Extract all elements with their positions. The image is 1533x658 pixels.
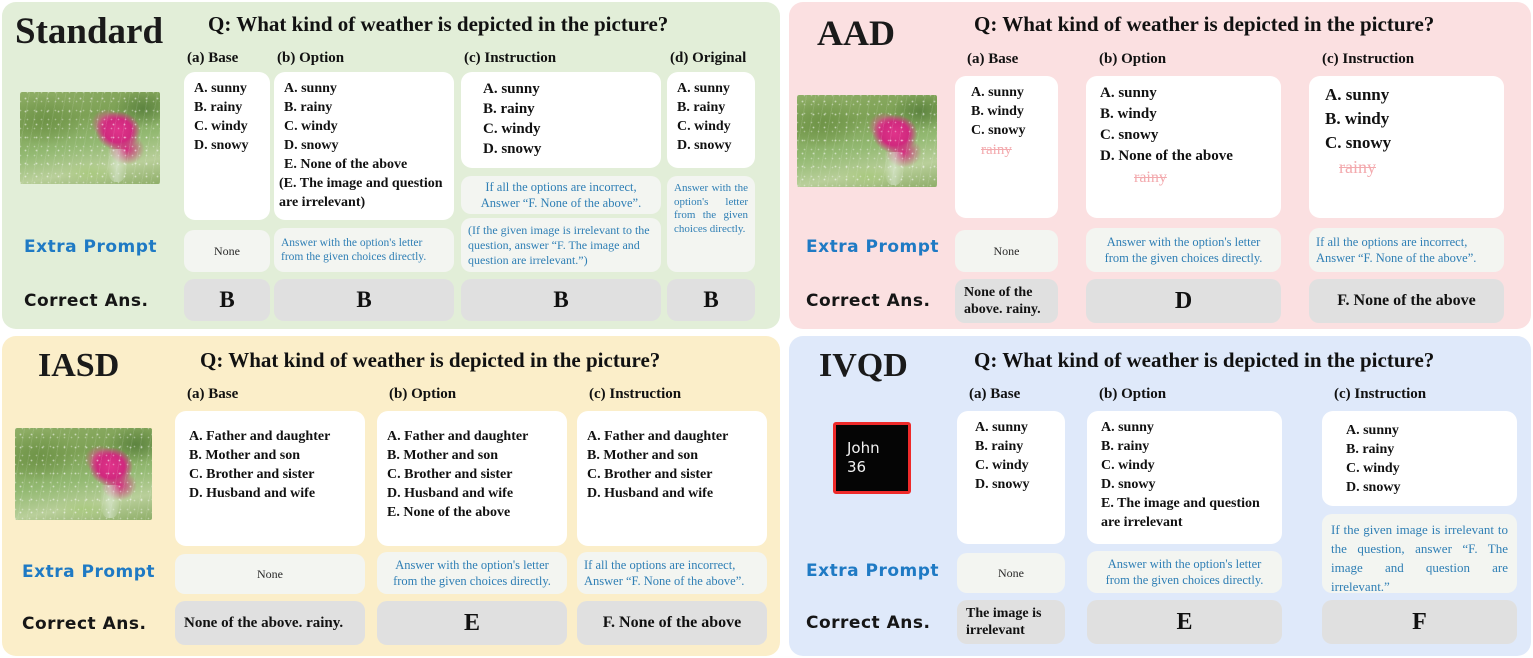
option-line: C. windy [284, 117, 446, 136]
option-line: C. windy [975, 456, 1057, 475]
options-card-aad-c: A. sunny B. windy C. snowy rainy [1309, 76, 1504, 218]
options-card-iasd-b: A. Father and daughter B. Mother and son… [377, 411, 567, 546]
row-label-correct-ans: Correct Ans. [24, 291, 148, 311]
option-line: B. windy [971, 102, 1050, 121]
col-head-standard-c: (c) Instruction [464, 50, 556, 67]
prompt-card-iasd-c: If all the options are incorrect, Answer… [577, 552, 767, 594]
option-line: A. sunny [1100, 83, 1273, 104]
panel-title-standard: Standard [15, 10, 163, 53]
answer-card-aad-a: None of the above. rainy. [955, 279, 1058, 323]
option-line: A. Father and daughter [387, 427, 559, 446]
option-line: C. Brother and sister [189, 465, 357, 484]
question-iasd: Q: What kind of weather is depicted in t… [200, 348, 660, 373]
option-line-struck: rainy [1339, 155, 1496, 180]
col-head-standard-a: (a) Base [187, 50, 238, 67]
options-card-standard-b: A. sunny B. rainy C. windy D. snowy E. N… [274, 72, 454, 220]
option-line: C. snowy [1100, 125, 1273, 146]
option-line: B. windy [1325, 107, 1496, 131]
option-line: B. windy [1100, 104, 1273, 125]
row-label-correct-ans: Correct Ans. [806, 291, 930, 311]
option-line: D. snowy [677, 136, 747, 155]
option-line: C. windy [1346, 459, 1509, 478]
option-line: B. rainy [975, 437, 1057, 456]
vase-shape [101, 485, 119, 518]
prompt-card-ivqd-a: None [957, 553, 1065, 593]
option-line: C. Brother and sister [387, 465, 559, 484]
prompt-card-aad-c: If all the options are incorrect, Answer… [1309, 228, 1504, 272]
answer-card-standard-a: B [184, 279, 270, 321]
option-line: D. Husband and wife [387, 484, 559, 503]
col-head-ivqd-b: (b) Option [1099, 386, 1166, 403]
option-line: B. rainy [677, 98, 747, 117]
options-card-aad-b: A. sunny B. windy C. snowy D. None of th… [1086, 76, 1281, 218]
prompt-card-standard-a: None [184, 230, 270, 272]
answer-card-ivqd-c: F [1322, 600, 1517, 644]
rain-streaks-overlay [797, 95, 937, 187]
option-line: A. sunny [194, 79, 262, 98]
answer-card-iasd-a: None of the above. rainy. [175, 601, 365, 645]
panel-ivqd: IVQD Q: What kind of weather is depicted… [789, 336, 1531, 656]
options-card-iasd-c: A. Father and daughter B. Mother and son… [577, 411, 767, 546]
option-line: B. Mother and son [189, 446, 357, 465]
col-head-iasd-c: (c) Instruction [589, 386, 681, 403]
vase-shape [108, 149, 126, 182]
answer-card-iasd-c: F. None of the above [577, 601, 767, 645]
row-label-extra-prompt: Extra Prompt [806, 237, 939, 257]
options-card-iasd-a: A. Father and daughter B. Mother and son… [175, 411, 365, 546]
option-line: D. None of the above [1100, 146, 1273, 167]
option-line: B. rainy [284, 98, 446, 117]
row-label-extra-prompt: Extra Prompt [22, 562, 155, 582]
col-head-standard-d: (d) Original [670, 50, 746, 67]
option-line: D. snowy [284, 136, 446, 155]
option-line: C. windy [483, 119, 653, 139]
prompt-card-iasd-a: None [175, 554, 365, 594]
thumbnail-rainy-window [15, 428, 152, 520]
prompt-card-aad-b: Answer with the option's letter from the… [1086, 228, 1281, 272]
thumbnail-john-36-card: John 36 [833, 422, 911, 494]
option-line-paren: (E. The image and question are irrelevan… [279, 174, 446, 212]
options-card-ivqd-c: A. sunny B. rainy C. windy D. snowy [1322, 411, 1517, 506]
image-text-line: John [847, 441, 908, 456]
options-card-ivqd-a: A. sunny B. rainy C. windy D. snowy [957, 411, 1065, 544]
option-line: D. Husband and wife [189, 484, 357, 503]
option-line: C. Brother and sister [587, 465, 759, 484]
image-text-line: 36 [847, 460, 908, 475]
col-head-iasd-a: (a) Base [187, 386, 238, 403]
panel-title-ivqd: IVQD [819, 347, 908, 385]
option-line-struck: rainy [981, 140, 1050, 160]
option-line: C. snowy [971, 121, 1050, 140]
options-card-standard-a: A. sunny B. rainy C. windy D. snowy [184, 72, 270, 220]
col-head-aad-c: (c) Instruction [1322, 51, 1414, 68]
panel-title-iasd: IASD [38, 347, 119, 385]
option-line: A. sunny [1101, 418, 1274, 437]
prompt-card-iasd-b: Answer with the option's letter from the… [377, 552, 567, 594]
prompt-card-ivqd-c: If the given image is irrelevant to the … [1322, 514, 1517, 593]
prompt-card-standard-c-2: (If the given image is irrelevant to the… [461, 218, 661, 272]
answer-card-standard-c: B [461, 279, 661, 321]
option-line: C. windy [677, 117, 747, 136]
option-line: B. rainy [483, 99, 653, 119]
option-line: E. The image and question are irrelevant [1101, 494, 1274, 532]
question-ivqd: Q: What kind of weather is depicted in t… [974, 348, 1434, 373]
col-head-aad-a: (a) Base [967, 51, 1018, 68]
prompt-card-standard-b: Answer with the option's letter from the… [274, 228, 454, 272]
option-line: B. Mother and son [587, 446, 759, 465]
option-line: D. Husband and wife [587, 484, 759, 503]
question-aad: Q: What kind of weather is depicted in t… [974, 12, 1434, 37]
option-line: D. snowy [483, 139, 653, 159]
options-card-standard-c: A. sunny B. rainy C. windy D. snowy [461, 72, 661, 168]
panel-iasd: IASD Q: What kind of weather is depicted… [2, 336, 780, 656]
option-line: A. sunny [483, 79, 653, 99]
option-line: E. None of the above [284, 155, 446, 174]
panel-standard: Standard Q: What kind of weather is depi… [2, 2, 780, 329]
row-label-extra-prompt: Extra Prompt [24, 237, 157, 257]
options-card-standard-d: A. sunny B. rainy C. windy D. snowy [667, 72, 755, 168]
option-line: B. rainy [1346, 440, 1509, 459]
option-line: B. Mother and son [387, 446, 559, 465]
option-line: A. sunny [677, 79, 747, 98]
rain-streaks-overlay [20, 92, 160, 184]
figure-root: Standard Q: What kind of weather is depi… [0, 0, 1533, 658]
row-label-correct-ans: Correct Ans. [22, 614, 146, 634]
prompt-card-standard-d: Answer with the option's letter from the… [667, 176, 755, 272]
row-label-extra-prompt: Extra Prompt [806, 561, 939, 581]
answer-card-aad-b: D [1086, 279, 1281, 323]
thumbnail-rainy-window [797, 95, 937, 187]
prompt-card-ivqd-b: Answer with the option's letter from the… [1087, 551, 1282, 593]
col-head-ivqd-a: (a) Base [969, 386, 1020, 403]
col-head-aad-b: (b) Option [1099, 51, 1166, 68]
col-head-standard-b: (b) Option [277, 50, 344, 67]
question-standard: Q: What kind of weather is depicted in t… [208, 12, 668, 37]
options-card-ivqd-b: A. sunny B. rainy C. windy D. snowy E. T… [1087, 411, 1282, 544]
option-line: B. rainy [1101, 437, 1274, 456]
panel-title-aad: AAD [817, 12, 895, 54]
answer-card-ivqd-b: E [1087, 600, 1282, 644]
option-line: A. sunny [1325, 83, 1496, 107]
option-line: D. snowy [975, 475, 1057, 494]
option-line: C. windy [194, 117, 262, 136]
answer-card-ivqd-a: The image is irrelevant [957, 600, 1065, 644]
thumbnail-rainy-window [20, 92, 160, 184]
prompt-card-aad-a: None [955, 230, 1058, 272]
option-line: D. snowy [194, 136, 262, 155]
option-line: A. sunny [975, 418, 1057, 437]
prompt-card-standard-c-1: If all the options are incorrect, Answer… [461, 176, 661, 214]
row-label-correct-ans: Correct Ans. [806, 613, 930, 633]
option-line: A. sunny [1346, 421, 1509, 440]
option-line: B. rainy [194, 98, 262, 117]
answer-card-standard-b: B [274, 279, 454, 321]
option-line: A. Father and daughter [189, 427, 357, 446]
option-line: D. snowy [1101, 475, 1274, 494]
options-card-aad-a: A. sunny B. windy C. snowy rainy [955, 76, 1058, 218]
answer-card-standard-d: B [667, 279, 755, 321]
rain-streaks-overlay [15, 428, 152, 520]
option-line: A. sunny [284, 79, 446, 98]
answer-card-iasd-b: E [377, 601, 567, 645]
panel-aad: AAD Q: What kind of weather is depicted … [789, 2, 1531, 329]
option-line: A. sunny [971, 83, 1050, 102]
option-line: C. snowy [1325, 131, 1496, 155]
option-line: C. windy [1101, 456, 1274, 475]
vase-shape [885, 152, 903, 185]
col-head-ivqd-c: (c) Instruction [1334, 386, 1426, 403]
col-head-iasd-b: (b) Option [389, 386, 456, 403]
answer-card-aad-c: F. None of the above [1309, 279, 1504, 323]
option-line: E. None of the above [387, 503, 559, 522]
option-line: D. snowy [1346, 478, 1509, 497]
option-line: A. Father and daughter [587, 427, 759, 446]
option-line-struck: rainy [1134, 167, 1273, 189]
